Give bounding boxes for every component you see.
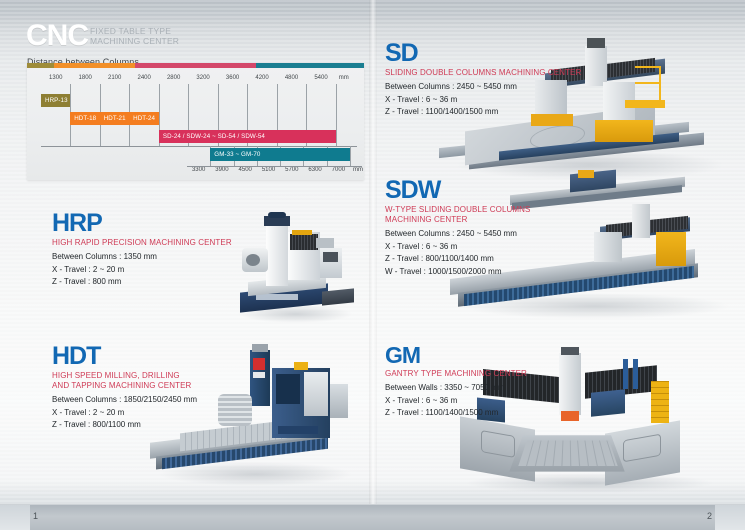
spec-line: Z - Travel : 800/1100 mm	[52, 419, 197, 432]
product-block-hdt: HDT HIGH SPEED MILLING, DRILLING AND TAP…	[52, 345, 197, 432]
chart-tick-label-top: 2400	[137, 75, 150, 81]
subtitle-line: MACHINING CENTER	[385, 215, 530, 225]
chart-tick-label-top: 4800	[285, 75, 298, 81]
subtitle-line: AND TAPPING MACHINING CENTER	[52, 381, 197, 391]
product-block-sd: SD SLIDING DOUBLE COLUMNS MACHINING CENT…	[385, 42, 581, 119]
chart-tick-label-bottom: 4500	[239, 167, 252, 173]
chart-axis-unit-top: mm	[339, 75, 349, 81]
product-specs-hrp: Between Columns : 1350 mm X - Travel : 2…	[52, 251, 232, 289]
spec-line: Between Columns : 2450 ~ 5450 mm	[385, 228, 530, 241]
product-subtitle-hrp: HIGH RAPID PRECISION MACHINING CENTER	[52, 238, 232, 247]
chart-tick-label-top: 4200	[255, 75, 268, 81]
product-block-sdw: SDW W-TYPE SLIDING DOUBLE COLUMNS MACHIN…	[385, 179, 530, 278]
spec-line: W - Travel : 1000/1500/2000 mm	[385, 266, 530, 279]
chart-tick-label-top: 2800	[167, 75, 180, 81]
chart-gridline	[336, 84, 337, 146]
product-specs-sdw: Between Columns : 2450 ~ 5450 mm X - Tra…	[385, 228, 530, 278]
distance-chart-panel: 1300180021002400280032003600420048005400…	[27, 63, 364, 180]
chart-tick-label-bottom: 7000	[332, 167, 345, 173]
chart-bar: GM-33 ~ GM-70	[210, 148, 350, 161]
page-footer: 1 2	[0, 504, 745, 530]
brand-subtitle-line1: FIXED TABLE TYPE	[90, 26, 179, 36]
chart-tick-label-bottom: 5100	[262, 167, 275, 173]
spec-line: Z - Travel : 800/1100/1400 mm	[385, 253, 530, 266]
chart-bar: HDT-18	[70, 112, 99, 125]
spec-line: X - Travel : 6 ~ 36 m	[385, 94, 581, 107]
brand-subtitle: FIXED TABLE TYPE MACHINING CENTER	[90, 26, 179, 46]
product-specs-hdt: Between Columns : 1850/2150/2450 mm X - …	[52, 394, 197, 432]
spec-line: Z - Travel : 800 mm	[52, 276, 232, 289]
chart-tick-label-bottom: 3300	[192, 167, 205, 173]
chart-axis-line-top	[41, 146, 357, 147]
machine-image-hrp	[230, 210, 360, 325]
product-block-hrp: HRP HIGH RAPID PRECISION MACHINING CENTE…	[52, 212, 232, 289]
chart-axis-line-bottom	[187, 166, 362, 167]
spec-line: Z - Travel : 1100/1400/1500 mm	[385, 106, 581, 119]
chart-tick-label-top: 5400	[314, 75, 327, 81]
subtitle-line: W-TYPE SLIDING DOUBLE COLUMNS	[385, 205, 530, 215]
spec-line: Between Columns : 1850/2150/2450 mm	[52, 394, 197, 407]
product-subtitle-hdt: HIGH SPEED MILLING, DRILLING AND TAPPING…	[52, 371, 197, 390]
catalog-page: CNC FIXED TABLE TYPE MACHINING CENTER Di…	[0, 0, 745, 530]
product-title-hrp: HRP	[52, 212, 232, 235]
product-title-sd: SD	[385, 42, 581, 65]
chart-bar-label: SD-24 / SDW-24 ~ SD-54 / SDW-54	[159, 133, 265, 140]
spec-line: X - Travel : 2 ~ 20 m	[52, 407, 197, 420]
spec-line: X - Travel : 2 ~ 20 m	[52, 264, 232, 277]
chart-bar-label: HDT-21	[100, 115, 129, 122]
product-title-hdt: HDT	[52, 345, 197, 368]
chart-bar-label: HDT-18	[70, 115, 99, 122]
chart-tick-label-bottom: 3900	[215, 167, 228, 173]
page-number-right: 2	[707, 511, 712, 521]
chart-bar-label: GM-33 ~ GM-70	[210, 151, 260, 158]
brand-header: CNC FIXED TABLE TYPE MACHINING CENTER	[26, 22, 179, 49]
chart-tick-label-top: 3200	[196, 75, 209, 81]
chart-tick-label-top: 3600	[226, 75, 239, 81]
chart-bar: SD-24 / SDW-24 ~ SD-54 / SDW-54	[159, 130, 336, 143]
chart-gridline	[350, 146, 351, 167]
product-subtitle-sd: SLIDING DOUBLE COLUMNS MACHINING CENTER	[385, 68, 581, 77]
footer-cap-left	[0, 505, 30, 530]
chart-tick-label-bottom: 6300	[308, 167, 321, 173]
brand-logo-cnc: CNC	[26, 22, 88, 49]
chart-bar: HDT-24	[129, 112, 158, 125]
product-specs-gm: Between Walls : 3350 ~ 7050 mm X - Trave…	[385, 382, 527, 420]
spec-line: Between Columns : 1350 mm	[52, 251, 232, 264]
spec-line: X - Travel : 6 ~ 36 m	[385, 395, 527, 408]
brand-subtitle-line2: MACHINING CENTER	[90, 36, 179, 46]
subtitle-line: HIGH SPEED MILLING, DRILLING	[52, 371, 197, 381]
chart-bar-label: HDT-24	[129, 115, 158, 122]
product-title-sdw: SDW	[385, 179, 530, 202]
chart-bar: HRP-13	[41, 94, 70, 107]
spec-line: X - Travel : 6 ~ 36 m	[385, 241, 530, 254]
page-spine	[369, 0, 377, 506]
product-specs-sd: Between Columns : 2450 ~ 5450 mm X - Tra…	[385, 81, 581, 119]
chart-axis-unit-bottom: mm	[353, 167, 363, 173]
chart-tick-label-top: 1300	[49, 75, 62, 81]
spec-line: Z - Travel : 1100/1400/1500 mm	[385, 407, 527, 420]
chart-tick-label-bottom: 5700	[285, 167, 298, 173]
product-title-gm: GM	[385, 345, 527, 366]
chart-tick-label-top: 1800	[79, 75, 92, 81]
product-subtitle-sdw: W-TYPE SLIDING DOUBLE COLUMNS MACHINING …	[385, 205, 530, 224]
product-subtitle-gm: GANTRY TYPE MACHINING CENTER	[385, 369, 527, 378]
spec-line: Between Walls : 3350 ~ 7050 mm	[385, 382, 527, 395]
product-block-gm: GM GANTRY TYPE MACHINING CENTER Between …	[385, 345, 527, 420]
chart-plot-area: 1300180021002400280032003600420048005400…	[27, 68, 364, 180]
chart-bar-label: HRP-13	[41, 97, 68, 104]
chart-bar: HDT-21	[100, 112, 129, 125]
footer-cap-right	[715, 505, 745, 530]
page-number-left: 1	[33, 511, 38, 521]
spec-line: Between Columns : 2450 ~ 5450 mm	[385, 81, 581, 94]
chart-tick-label-top: 2100	[108, 75, 121, 81]
